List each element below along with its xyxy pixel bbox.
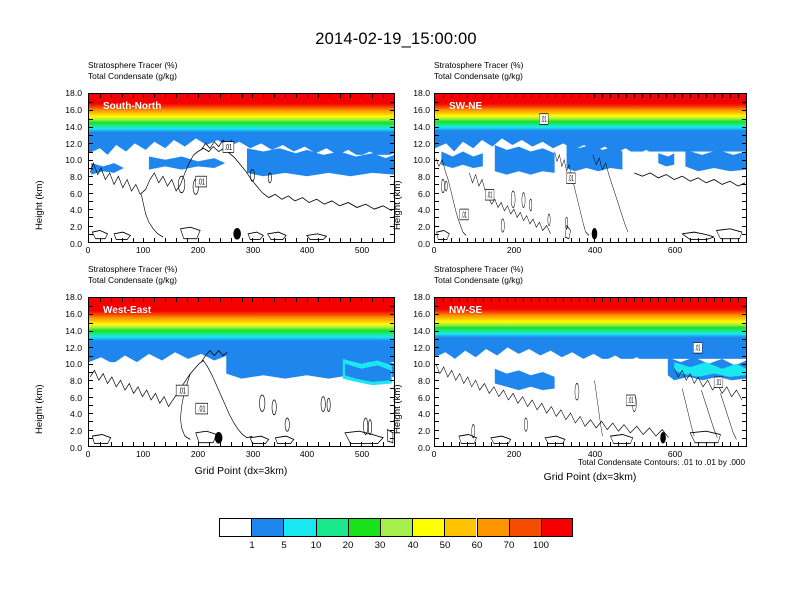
contour-note: Total Condensate Contours: .01 to .01 by…: [578, 458, 745, 467]
y-tick-3-9: 18.0: [44, 292, 82, 302]
y-tick-1-1: 2.0: [44, 222, 82, 232]
x-tick-4-1: 200: [504, 449, 524, 459]
y-tick-4-4: 8.0: [400, 376, 430, 386]
subtitle-line-1: Stratosphere Tracer (%): [434, 264, 523, 274]
direction-label-west-east: West-East: [103, 305, 151, 316]
subtitle-line-2: Total Condensate (g/kg): [434, 275, 523, 286]
svg-text:.01: .01: [695, 344, 701, 353]
y-tick-2-9: 18.0: [400, 88, 430, 98]
subtitle-line-1: Stratosphere Tracer (%): [88, 264, 177, 274]
svg-text:.01: .01: [197, 179, 205, 187]
panel-subtitle: Stratosphere Tracer (%) Total Condensate…: [434, 264, 523, 287]
colorbar-label-3: 20: [333, 540, 363, 551]
colorbar-label-5: 40: [398, 540, 428, 551]
y-tick-1-5: 10.0: [44, 155, 82, 165]
y-tick-4-7: 14.0: [400, 326, 430, 336]
plot-area-nw-se: .01 .01 .01 NW-SE: [434, 297, 747, 447]
y-tick-3-0: 0.0: [44, 443, 82, 453]
figure: 2014-02-19_15:00:00 Stratosphere Tracer …: [0, 0, 792, 612]
subtitle-line-2: Total Condensate (g/kg): [434, 71, 523, 82]
subtitle-line-2: Total Condensate (g/kg): [88, 71, 177, 82]
x-tick-2-3: 600: [665, 245, 685, 255]
y-tick-3-3: 6.0: [44, 393, 82, 403]
y-tick-2-4: 8.0: [400, 172, 430, 182]
x-tick-3-2: 200: [188, 449, 208, 459]
figure-title: 2014-02-19_15:00:00: [0, 30, 792, 49]
y-tick-4-8: 16.0: [400, 309, 430, 319]
x-tick-1-5: 500: [352, 245, 372, 255]
colorbar-label-7: 60: [462, 540, 492, 551]
x-tick-3-4: 400: [297, 449, 317, 459]
colorbar-segment: [412, 518, 444, 537]
panel-subtitle: Stratosphere Tracer (%) Total Condensate…: [88, 264, 177, 287]
x-tick-1-2: 200: [188, 245, 208, 255]
y-tick-3-8: 16.0: [44, 309, 82, 319]
colorbar-label-4: 30: [365, 540, 395, 551]
colorbar-segment: [380, 518, 412, 537]
svg-text:.01: .01: [716, 379, 722, 388]
colorbar-segment: [219, 518, 251, 537]
x-tick-1-3: 300: [243, 245, 263, 255]
colorbar-segment: [444, 518, 476, 537]
x-tick-1-4: 400: [297, 245, 317, 255]
subtitle-line-1: Stratosphere Tracer (%): [88, 60, 177, 70]
y-tick-4-9: 18.0: [400, 292, 430, 302]
svg-text:.01: .01: [628, 397, 634, 406]
y-tick-1-6: 12.0: [44, 139, 82, 149]
y-tick-3-5: 10.0: [44, 359, 82, 369]
y-tick-1-8: 16.0: [44, 105, 82, 115]
svg-text:.01: .01: [487, 191, 493, 200]
x-tick-4-0: 0: [424, 449, 444, 459]
colorbar-label-2: 10: [301, 540, 331, 551]
y-tick-1-4: 8.0: [44, 172, 82, 182]
y-tick-3-6: 12.0: [44, 343, 82, 353]
subtitle-line-2: Total Condensate (g/kg): [88, 275, 177, 286]
y-tick-3-7: 14.0: [44, 326, 82, 336]
y-tick-2-1: 2.0: [400, 222, 430, 232]
y-tick-4-5: 10.0: [400, 359, 430, 369]
y-tick-3-1: 2.0: [44, 426, 82, 436]
y-tick-2-8: 16.0: [400, 105, 430, 115]
y-tick-4-3: 6.0: [400, 393, 430, 403]
x-axis-label-right: Grid Point (dx=3km): [490, 472, 690, 483]
svg-text:.01: .01: [178, 387, 186, 395]
x-tick-2-0: 0: [424, 245, 444, 255]
x-tick-3-0: 0: [78, 449, 98, 459]
colorbar-segment: [283, 518, 315, 537]
y-tick-2-6: 12.0: [400, 139, 430, 149]
svg-text:.01: .01: [198, 406, 206, 414]
x-tick-3-1: 100: [133, 449, 153, 459]
x-tick-2-1: 200: [504, 245, 524, 255]
y-tick-2-3: 6.0: [400, 189, 430, 199]
y-tick-2-5: 10.0: [400, 155, 430, 165]
plot-area-south-north: .01 .01 South-North: [88, 93, 395, 243]
y-tick-1-7: 14.0: [44, 122, 82, 132]
y-tick-3-4: 8.0: [44, 376, 82, 386]
y-tick-1-2: 4.0: [44, 205, 82, 215]
svg-text:.01: .01: [541, 116, 547, 125]
y-tick-1-3: 6.0: [44, 189, 82, 199]
x-tick-3-5: 500: [352, 449, 372, 459]
colorbar-segment: [509, 518, 541, 537]
y-tick-3-2: 4.0: [44, 409, 82, 419]
colorbar-label-1: 5: [269, 540, 299, 551]
y-tick-2-2: 4.0: [400, 205, 430, 215]
colorbar-segment: [477, 518, 509, 537]
x-tick-1-1: 100: [133, 245, 153, 255]
colorbar-segment: [348, 518, 380, 537]
svg-text:.01: .01: [568, 175, 574, 184]
y-tick-4-2: 4.0: [400, 409, 430, 419]
svg-text:.01: .01: [225, 144, 233, 152]
colorbar-segment: [251, 518, 283, 537]
colorbar-label-9: 100: [526, 540, 556, 551]
y-tick-4-1: 2.0: [400, 426, 430, 436]
colorbar-segment: [316, 518, 348, 537]
plot-area-west-east: .01 .01 West-East: [88, 297, 395, 447]
direction-label-nw-se: NW-SE: [449, 305, 482, 316]
colorbar-label-6: 50: [430, 540, 460, 551]
colorbar-label-8: 70: [494, 540, 524, 551]
direction-label-sw-ne: SW-NE: [449, 101, 482, 112]
svg-text:.01: .01: [461, 211, 467, 220]
colorbar-label-0: 1: [237, 540, 267, 551]
x-tick-3-3: 300: [243, 449, 263, 459]
panel-subtitle: Stratosphere Tracer (%) Total Condensate…: [88, 60, 177, 83]
y-tick-1-0: 0.0: [44, 239, 82, 249]
x-tick-2-2: 400: [585, 245, 605, 255]
plot-area-sw-ne: .01 .01 .01 .01 SW-NE: [434, 93, 747, 243]
x-tick-1-0: 0: [78, 245, 98, 255]
y-tick-1-9: 18.0: [44, 88, 82, 98]
direction-label-south-north: South-North: [103, 101, 161, 112]
colorbar-segment: [541, 518, 573, 537]
panel-subtitle: Stratosphere Tracer (%) Total Condensate…: [434, 60, 523, 83]
subtitle-line-1: Stratosphere Tracer (%): [434, 60, 523, 70]
colorbar: [219, 518, 573, 537]
y-tick-4-6: 12.0: [400, 343, 430, 353]
x-axis-label-left: Grid Point (dx=3km): [141, 466, 341, 477]
y-tick-2-7: 14.0: [400, 122, 430, 132]
